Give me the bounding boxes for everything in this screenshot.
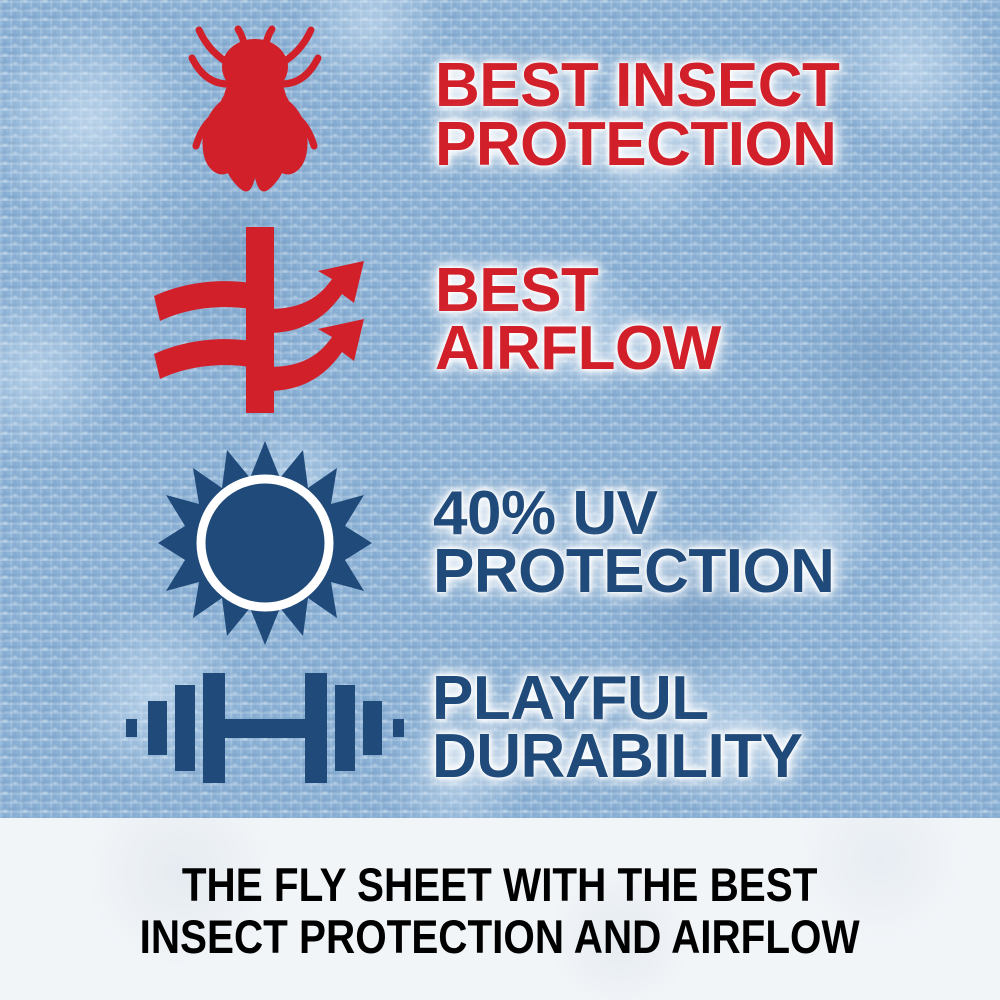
feature-label-insect-protection: BEST INSECT PROTECTION	[435, 57, 839, 174]
feature-row-durability: PLAYFUL DURABILITY	[120, 648, 920, 808]
feature-row-insect-protection: BEST INSECT PROTECTION	[170, 18, 970, 213]
sun-icon	[155, 438, 375, 648]
feature-label-uv-protection: 40% UV PROTECTION	[433, 485, 834, 602]
feature-row-airflow: BEST AIRFLOW	[150, 220, 950, 420]
feature-label-durability: PLAYFUL DURABILITY	[432, 670, 802, 787]
infographic-page: BEST INSECT PROTECTION BEST AIRFLO	[0, 0, 1000, 1000]
dumbbell-icon	[120, 653, 410, 803]
feature-label-airflow: BEST AIRFLOW	[435, 262, 721, 379]
caption-bar: THE FLY SHEET WITH THE BEST INSECT PROTE…	[0, 818, 1000, 1000]
caption-text: THE FLY SHEET WITH THE BEST INSECT PROTE…	[140, 855, 860, 962]
fly-icon	[170, 18, 340, 213]
airflow-arrows-icon	[150, 223, 380, 418]
feature-row-uv-protection: 40% UV PROTECTION	[155, 438, 955, 648]
